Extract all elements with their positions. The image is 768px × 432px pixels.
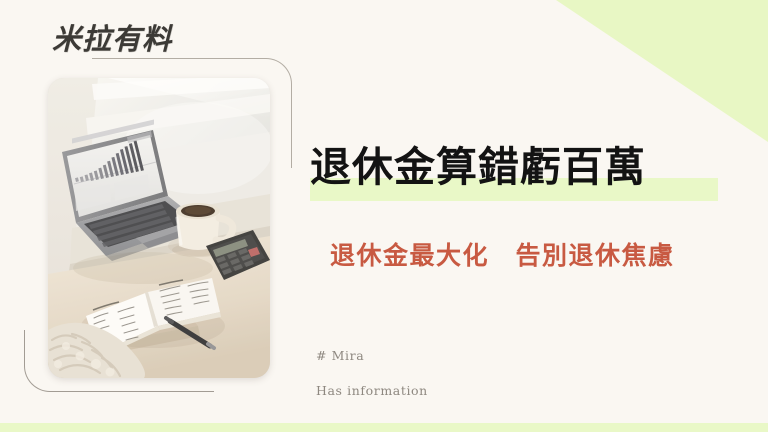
meta-block: # Mira Has information — [316, 350, 428, 419]
meta-tagline: Has information — [316, 385, 428, 398]
headline-block: 退休金算錯虧百萬 — [310, 145, 730, 191]
brand-logo: 米拉有料 — [52, 16, 172, 58]
hero-photo — [48, 78, 270, 378]
headline-text: 退休金算錯虧百萬 — [310, 145, 730, 191]
poster-canvas: 米拉有料 — [0, 0, 768, 432]
bottom-accent-strip — [0, 423, 768, 432]
meta-hashtag: # Mira — [316, 350, 428, 363]
desk-scene-illustration — [48, 78, 270, 378]
corner-triangle-decoration — [556, 0, 768, 142]
subtitle-text: 退休金最大化 告別退休焦慮 — [330, 236, 675, 272]
